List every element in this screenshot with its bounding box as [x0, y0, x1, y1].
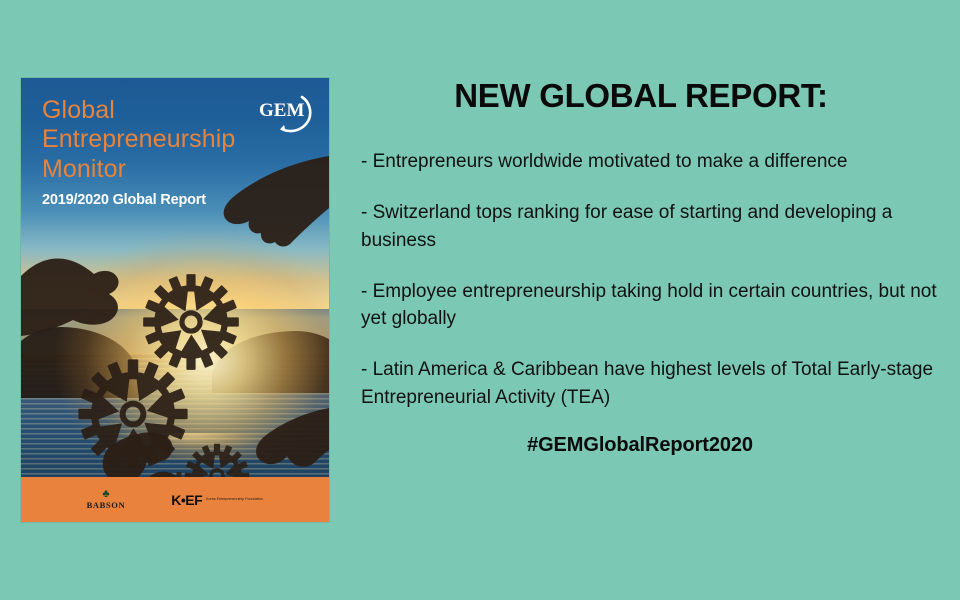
gem-logo-text: GEM [259, 100, 304, 121]
list-item: - Latin America & Caribbean have highest… [345, 356, 937, 411]
cover-subtitle: 2019/2020 Global Report [42, 192, 206, 208]
kef-wordmark: K•EF [171, 492, 202, 508]
page-title: NEW GLOBAL REPORT: [345, 78, 945, 114]
content-column: NEW GLOBAL REPORT: - Entrepreneurs world… [345, 78, 945, 538]
kef-logo: K•EF Korea Entrepreneurship Foundation [171, 492, 263, 508]
gem-logo-icon: GEM [257, 88, 315, 136]
report-cover-image: Global Entrepreneurship Monitor 2019/202… [21, 78, 329, 522]
cover-title-line-3: Monitor [42, 155, 235, 184]
list-item: - Employee entrepreneurship taking hold … [345, 278, 937, 333]
hashtag-label: #GEMGlobalReport2020 [345, 434, 945, 457]
babson-mark-icon: ♣ [87, 489, 126, 500]
cover-title: Global Entrepreneurship Monitor [42, 96, 235, 184]
babson-logo: ♣ BABSON [87, 489, 126, 510]
babson-wordmark: BABSON [87, 501, 126, 510]
bullet-list: - Entrepreneurs worldwide motivated to m… [345, 148, 945, 411]
kef-descriptor: Korea Entrepreneurship Foundation [206, 497, 263, 502]
cover-partner-logos: ♣ BABSON K•EF Korea Entrepreneurship Fou… [21, 477, 329, 522]
list-item: - Entrepreneurs worldwide motivated to m… [345, 148, 937, 176]
list-item: - Switzerland tops ranking for ease of s… [345, 199, 937, 254]
promo-slide: Global Entrepreneurship Monitor 2019/202… [0, 0, 960, 600]
cover-title-line-1: Global [42, 96, 235, 125]
cover-title-line-2: Entrepreneurship [42, 125, 235, 154]
